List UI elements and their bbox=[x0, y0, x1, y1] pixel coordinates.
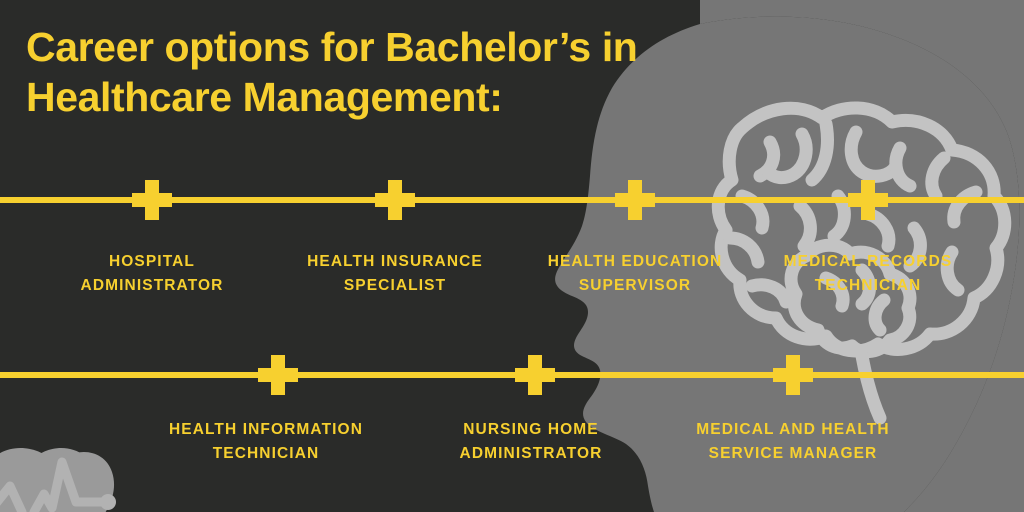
cross-icon[interactable] bbox=[773, 355, 813, 395]
timeline-node-label-health-education-supervisor[interactable]: HEALTH EDUCATION SUPERVISOR bbox=[515, 250, 755, 298]
label-line-2: SERVICE MANAGER bbox=[668, 442, 918, 466]
cross-icon[interactable] bbox=[515, 355, 555, 395]
timeline-node-label-hospital-administrator[interactable]: HOSPITAL ADMINISTRATOR bbox=[32, 250, 272, 298]
timeline-node-label-health-information-technician[interactable]: HEALTH INFORMATION TECHNICIAN bbox=[146, 418, 386, 466]
cross-icon-vertical bbox=[861, 180, 875, 220]
page-title: Career options for Bachelor’s in Healthc… bbox=[26, 22, 786, 122]
label-line-2: ADMINISTRATOR bbox=[411, 442, 651, 466]
cross-icon-vertical bbox=[786, 355, 800, 395]
cross-icon-vertical bbox=[145, 180, 159, 220]
heart-with-heartbeat-icon bbox=[0, 448, 116, 512]
label-line-1: MEDICAL AND HEALTH bbox=[668, 418, 918, 442]
label-line-1: NURSING HOME bbox=[411, 418, 651, 442]
cross-icon-vertical bbox=[388, 180, 402, 220]
timeline-node-label-medical-and-health-service-manager[interactable]: MEDICAL AND HEALTH SERVICE MANAGER bbox=[668, 418, 918, 466]
timeline-rail-row-2 bbox=[0, 372, 1024, 378]
label-line-1: HEALTH EDUCATION bbox=[515, 250, 755, 274]
cross-icon-vertical bbox=[271, 355, 285, 395]
cross-icon[interactable] bbox=[258, 355, 298, 395]
cross-icon[interactable] bbox=[848, 180, 888, 220]
cross-icon[interactable] bbox=[375, 180, 415, 220]
label-line-1: HEALTH INSURANCE bbox=[275, 250, 515, 274]
label-line-1: HOSPITAL bbox=[32, 250, 272, 274]
timeline-node-label-health-insurance-specialist[interactable]: HEALTH INSURANCE SPECIALIST bbox=[275, 250, 515, 298]
label-line-2: SUPERVISOR bbox=[515, 274, 755, 298]
label-line-2: ADMINISTRATOR bbox=[32, 274, 272, 298]
label-line-2: SPECIALIST bbox=[275, 274, 515, 298]
cross-icon-vertical bbox=[528, 355, 542, 395]
cross-icon[interactable] bbox=[132, 180, 172, 220]
timeline-node-label-nursing-home-administrator[interactable]: NURSING HOME ADMINISTRATOR bbox=[411, 418, 651, 466]
timeline-node-label-medical-records-technician[interactable]: MEDICAL RECORDS TECHNICIAN bbox=[750, 250, 986, 298]
label-line-2: TECHNICIAN bbox=[146, 442, 386, 466]
infographic-canvas: Career options for Bachelor’s in Healthc… bbox=[0, 0, 1024, 512]
page-title-line-1: Career options for Bachelor’s in bbox=[26, 22, 786, 72]
label-line-2: TECHNICIAN bbox=[750, 274, 986, 298]
cross-icon[interactable] bbox=[615, 180, 655, 220]
page-title-line-2: Healthcare Management: bbox=[26, 72, 786, 122]
label-line-1: HEALTH INFORMATION bbox=[146, 418, 386, 442]
label-line-1: MEDICAL RECORDS bbox=[750, 250, 986, 274]
cross-icon-vertical bbox=[628, 180, 642, 220]
